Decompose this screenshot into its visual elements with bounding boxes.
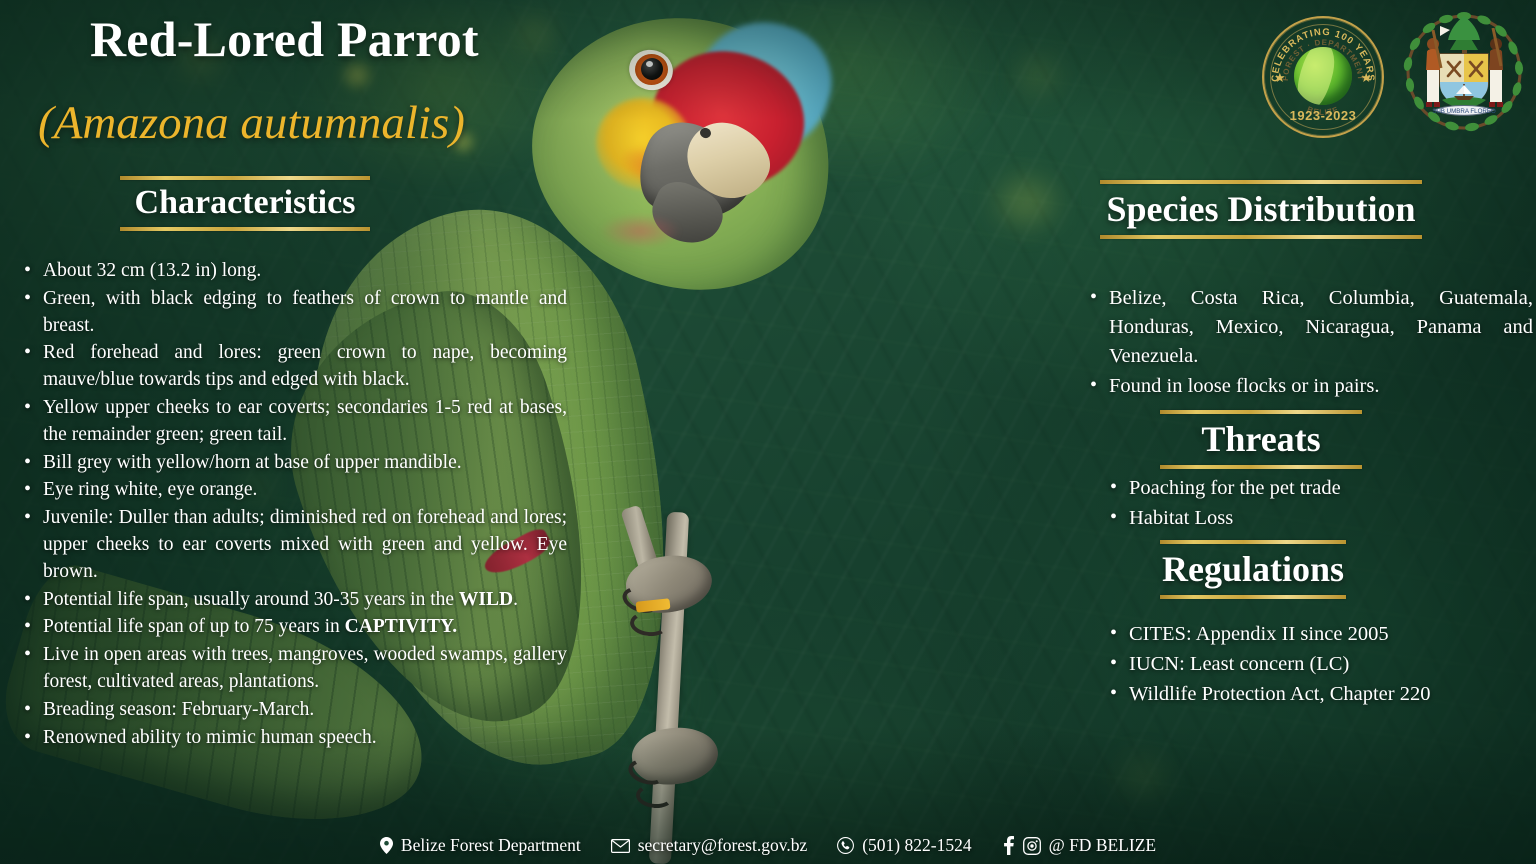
svg-text:SUB UMBRA FLOREO: SUB UMBRA FLOREO: [1432, 108, 1496, 115]
logo-years: 1923-2023: [1264, 108, 1382, 123]
footer-phone-label: (501) 822-1524: [862, 835, 971, 856]
characteristics-item: Potential life span, usually around 30-3…: [22, 587, 567, 614]
species-distribution-list: Belize, Costa Rica, Columbia, Guatemala,…: [1085, 284, 1533, 402]
regulations-item: CITES: Appendix II since 2005: [1105, 620, 1525, 649]
footer-email[interactable]: secretary@forest.gov.bz: [611, 835, 808, 856]
species-distribution-item: Belize, Costa Rica, Columbia, Guatemala,…: [1085, 284, 1533, 371]
divider-rule-bottom: [1160, 595, 1346, 599]
characteristics-item: Juvenile: Duller than adults; diminished…: [22, 505, 567, 585]
threats-list: Poaching for the pet tradeHabitat Loss: [1105, 474, 1505, 534]
regulations-item: Wildlife Protection Act, Chapter 220: [1105, 680, 1525, 709]
threats-heading: Threats: [1160, 414, 1362, 465]
regulations-heading: Regulations: [1160, 544, 1346, 595]
regulations-list: CITES: Appendix II since 2005IUCN: Least…: [1105, 620, 1525, 710]
characteristics-item: Live in open areas with trees, mangroves…: [22, 642, 567, 696]
characteristics-item: Breading season: February-March.: [22, 697, 567, 724]
coa-mahogany-tree: [1448, 16, 1480, 58]
characteristics-heading-block: Characteristics: [120, 176, 370, 231]
forest-department-logo: CELEBRATING 100 YEARS FOREST · DEPARTMEN…: [1262, 16, 1384, 138]
characteristics-item: Renowned ability to mimic human speech.: [22, 725, 567, 752]
characteristics-item: Potential life span of up to 75 years in…: [22, 614, 567, 641]
footer-phone[interactable]: (501) 822-1524: [837, 835, 971, 856]
logo-star-icon: ★: [1274, 70, 1286, 86]
characteristics-item: Bill grey with yellow/horn at base of up…: [22, 450, 567, 477]
coa-motto-scroll: SUB UMBRA FLOREO: [1432, 106, 1496, 116]
contact-footer: Belize Forest Department secretary@fores…: [0, 835, 1536, 856]
infographic-poster: Red-Lored Parrot (Amazona autumnalis) Ch…: [0, 0, 1536, 864]
logo-globe-icon: [1294, 47, 1352, 105]
envelope-icon: [611, 839, 630, 853]
instagram-icon[interactable]: [1023, 837, 1041, 855]
coa-shield: [1440, 54, 1488, 109]
belize-coat-of-arms-logo: SUB UMBRA FLOREO: [1400, 10, 1528, 138]
characteristics-item: Eye ring white, eye orange.: [22, 477, 567, 504]
phone-icon: [837, 837, 854, 854]
characteristics-heading: Characteristics: [120, 180, 370, 227]
threats-item: Habitat Loss: [1105, 504, 1505, 533]
regulations-item: IUCN: Least concern (LC): [1105, 650, 1525, 679]
location-pin-icon: [380, 837, 393, 854]
page-title: Red-Lored Parrot: [90, 10, 479, 68]
species-distribution-heading: Species Distribution: [1100, 184, 1422, 235]
footer-social[interactable]: @ FD BELIZE: [1002, 835, 1157, 856]
divider-rule-bottom: [120, 227, 370, 231]
threats-item: Poaching for the pet trade: [1105, 474, 1505, 503]
logo-star-icon: ★: [1360, 70, 1372, 86]
characteristics-item: Yellow upper cheeks to ear coverts; seco…: [22, 395, 567, 449]
species-distribution-heading-block: Species Distribution: [1100, 180, 1422, 239]
divider-rule-bottom: [1160, 465, 1362, 469]
characteristics-list: About 32 cm (13.2 in) long.Green, with b…: [22, 258, 567, 752]
scientific-name: (Amazona autumnalis): [38, 96, 465, 150]
characteristics-item: Red forehead and lores: green crown to n…: [22, 340, 567, 394]
facebook-icon[interactable]: [1002, 836, 1015, 855]
threats-heading-block: Threats: [1160, 410, 1362, 469]
footer-email-label: secretary@forest.gov.bz: [638, 835, 808, 856]
footer-department-label: Belize Forest Department: [401, 835, 581, 856]
divider-rule-bottom: [1100, 235, 1422, 239]
characteristics-item: About 32 cm (13.2 in) long.: [22, 258, 567, 285]
footer-department: Belize Forest Department: [380, 835, 581, 856]
characteristics-item: Green, with black edging to feathers of …: [22, 286, 567, 340]
species-distribution-item: Found in loose flocks or in pairs.: [1085, 372, 1533, 401]
footer-social-label: @ FD BELIZE: [1049, 835, 1157, 856]
regulations-heading-block: Regulations: [1160, 540, 1346, 599]
